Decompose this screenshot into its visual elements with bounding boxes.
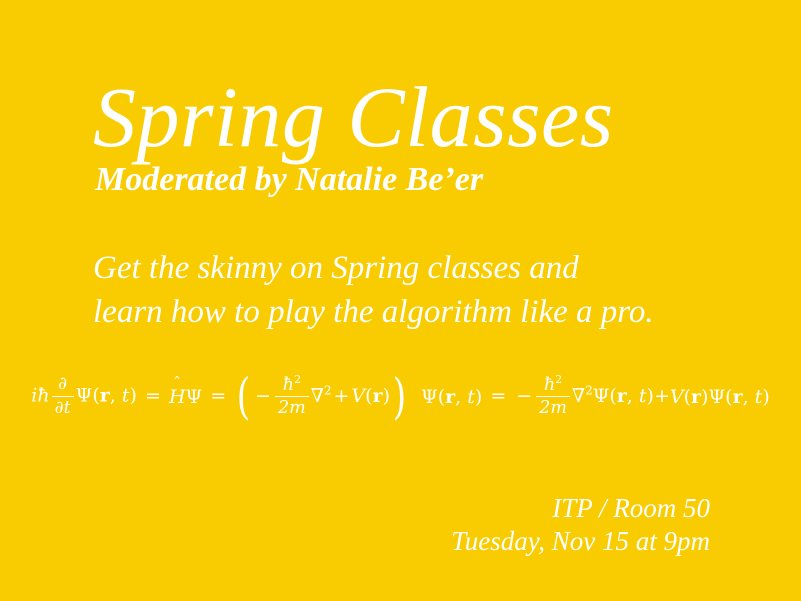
title-block: Spring Classes Moderated by Natalie Be’e… bbox=[93, 78, 753, 199]
poster-canvas: Spring Classes Moderated by Natalie Be’e… bbox=[0, 0, 801, 601]
eq-token-psi-1: Ψ bbox=[76, 385, 93, 407]
eq-equals-1: = bbox=[143, 385, 163, 407]
eq-token-V-1: V bbox=[351, 385, 365, 407]
event-location: ITP / Room 50 bbox=[451, 492, 710, 525]
eq-paren-open-6: ( bbox=[725, 386, 732, 408]
eq-partial-denominator: ∂t bbox=[52, 397, 74, 418]
eq-equals-3: = bbox=[488, 385, 508, 407]
event-details: ITP / Room 50 Tuesday, Nov 15 at 9pm bbox=[451, 492, 710, 558]
eq-hat-mark: ˆ bbox=[173, 376, 181, 392]
eq-hat-H: ˆH bbox=[169, 388, 186, 407]
eq-token-bold-r-1: r bbox=[100, 385, 110, 407]
eq-partial-fraction: ∂∂t bbox=[50, 374, 76, 417]
eq-token-t-1: t bbox=[122, 385, 130, 407]
eq-token-bold-r-5: r bbox=[691, 386, 701, 408]
eq-partial-numerator: ∂ bbox=[52, 374, 74, 396]
eq-hbar-exponent-1: 2 bbox=[294, 373, 301, 386]
page-subtitle: Moderated by Natalie Be’er bbox=[95, 161, 753, 198]
eq-equals-2: = bbox=[208, 385, 228, 407]
eq-psi-arg-2: Ψ(r, t) bbox=[415, 388, 482, 407]
eq-comma-1: , bbox=[110, 385, 116, 407]
eq-rhs-kinetic: −ħ22m∇2Ψ(r, t) bbox=[514, 375, 654, 419]
eq-nabla-1: ∇2 bbox=[311, 385, 332, 407]
eq-token-hbar: ħ bbox=[37, 385, 49, 407]
eq-comma-3: , bbox=[627, 385, 633, 407]
eq-hbar2-over-2m-2: ħ22m bbox=[534, 374, 572, 418]
eq-hamiltonian-term: ˆHΨ bbox=[169, 388, 202, 407]
eq-paren-close-4: ) bbox=[647, 385, 654, 407]
eq-hbar2-numerator-1: ħ2 bbox=[275, 374, 309, 397]
eq-token-psi-5: Ψ bbox=[708, 386, 725, 408]
eq-paren-close-2: ) bbox=[383, 385, 390, 407]
eq-2m-denominator-1: 2m bbox=[275, 397, 309, 418]
eq-hbar-exponent-2: 2 bbox=[555, 373, 562, 386]
eq-paren-close-3: ) bbox=[475, 386, 482, 408]
eq-paren-close-1: ) bbox=[130, 385, 137, 407]
eq-token-bold-r-3: r bbox=[445, 386, 455, 408]
tagline-line-1: Get the skinny on Spring classes and bbox=[93, 247, 753, 291]
eq-token-V-2: V bbox=[670, 386, 684, 408]
eq-comma-4: , bbox=[743, 386, 749, 408]
eq-plus-2: + bbox=[654, 385, 670, 407]
eq-paren-close-6: ) bbox=[762, 386, 769, 408]
eq-token-t-3: t bbox=[639, 385, 647, 407]
event-datetime: Tuesday, Nov 15 at 9pm bbox=[451, 525, 710, 558]
schrodinger-equation: iħ∂∂tΨ(r, t) = ˆHΨ = (−ħ22m∇2+V(r)) Ψ(r,… bbox=[31, 375, 769, 419]
eq-operator-group: −ħ22m∇2+V(r) bbox=[253, 375, 390, 419]
eq-paren-open-1: ( bbox=[92, 385, 99, 407]
eq-plus-1: + bbox=[332, 385, 352, 407]
eq-token-bold-r-2: r bbox=[373, 385, 383, 407]
eq-nabla-2: ∇2 bbox=[572, 385, 593, 407]
eq-token-bold-r-4: r bbox=[617, 385, 627, 407]
eq-hbar2-numerator-2: ħ2 bbox=[536, 374, 570, 397]
tagline-line-2: learn how to play the algorithm like a p… bbox=[93, 291, 753, 335]
eq-paren-open-4: ( bbox=[609, 385, 616, 407]
eq-paren-open-5: ( bbox=[684, 386, 691, 408]
eq-minus-2: − bbox=[514, 385, 534, 407]
eq-rhs-potential: V(r)Ψ(r, t) bbox=[670, 388, 770, 407]
tagline: Get the skinny on Spring classes and lea… bbox=[93, 247, 753, 334]
eq-token-bold-r-6: r bbox=[733, 386, 743, 408]
eq-big-paren-close: ) bbox=[393, 382, 407, 412]
equation-container: iħ∂∂tΨ(r, t) = ˆHΨ = (−ħ22m∇2+V(r)) Ψ(r,… bbox=[0, 375, 801, 419]
eq-token-psi-2: Ψ bbox=[186, 386, 203, 408]
page-title: Spring Classes bbox=[93, 78, 753, 157]
eq-2m-denominator-2: 2m bbox=[536, 397, 570, 418]
eq-minus-1: − bbox=[253, 385, 273, 407]
eq-comma-2: , bbox=[455, 386, 461, 408]
eq-paren-open-2: ( bbox=[365, 385, 372, 407]
eq-big-paren-open: ( bbox=[237, 382, 251, 412]
eq-token-psi-3: Ψ bbox=[421, 386, 438, 408]
eq-token-t-2: t bbox=[467, 386, 475, 408]
eq-paren-open-3: ( bbox=[438, 386, 445, 408]
eq-lhs: iħ∂∂tΨ(r, t) bbox=[31, 375, 137, 418]
eq-nabla-exponent-1: 2 bbox=[324, 384, 332, 398]
eq-token-psi-4: Ψ bbox=[593, 385, 610, 407]
eq-nabla-exponent-2: 2 bbox=[585, 384, 593, 398]
eq-hbar2-over-2m-1: ħ22m bbox=[273, 374, 311, 418]
